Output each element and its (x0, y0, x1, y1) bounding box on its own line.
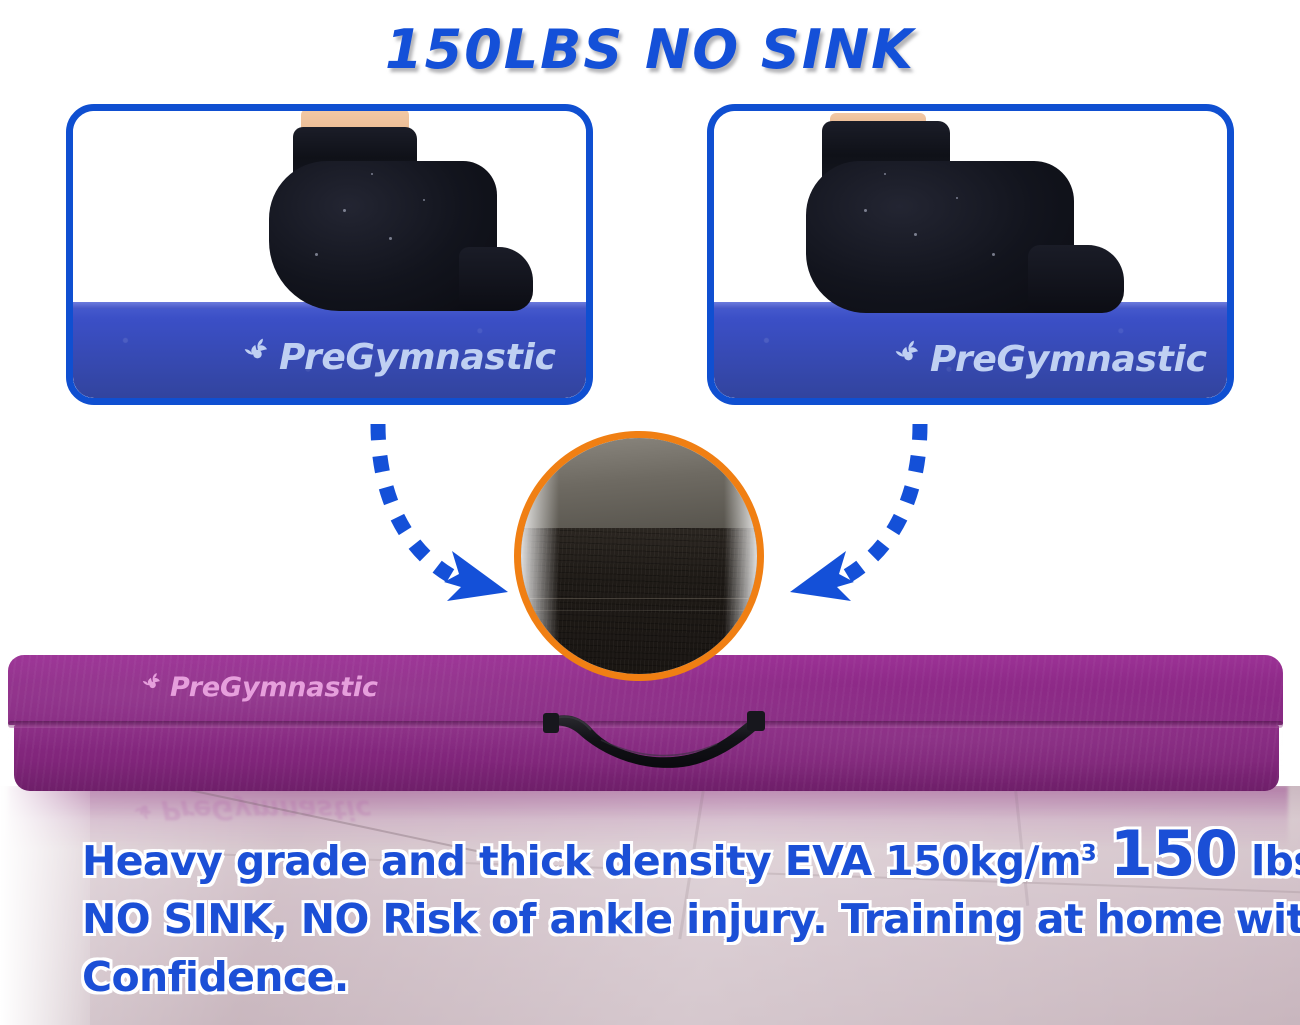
floor-edge-fade (0, 786, 90, 1025)
foot-in-sock (806, 113, 1156, 317)
foam-seam-line (530, 598, 747, 599)
copy-line-1-a: Heavy grade and thick density EVA 150kg/… (82, 837, 1081, 885)
copy-line-2: NO SINK, NO Risk of ankle injury. Traini… (82, 890, 1242, 948)
foam-seam-line (530, 610, 747, 611)
sock-toe (459, 247, 533, 311)
foot-in-sock (223, 111, 553, 319)
pinwheel-swirl-icon (132, 797, 158, 823)
copy-line-3: Confidence. (82, 948, 1242, 1006)
strap-webbing (546, 715, 763, 768)
strap-anchor-left (543, 713, 559, 733)
headline-title: 150LBS NO SINK (0, 22, 1300, 79)
copy-line-1: Heavy grade and thick density EVA 150kg/… (82, 826, 1242, 890)
photo-panel-right: PreGymnastic (707, 104, 1234, 405)
copy-weight-number: 150 (1110, 817, 1238, 890)
foam-edge-fade-left (521, 438, 559, 674)
beam-brand-logo: PreGymnastic (140, 671, 378, 703)
eva-foam-core-closeup (514, 431, 764, 681)
arrow-from-right-panel-to-foam-inset (790, 424, 920, 601)
marketing-copy: Heavy grade and thick density EVA 150kg/… (82, 826, 1242, 1007)
photo-panel-left-image: PreGymnastic (73, 111, 586, 398)
product-infographic: 150LBS NO SINK PreGymnastic (0, 0, 1300, 1025)
copy-line-1-b: lbs, (1251, 837, 1300, 885)
foam-edge-fade-right (724, 438, 757, 674)
arrow-from-left-panel-to-foam-inset (378, 424, 508, 601)
photo-panel-left: PreGymnastic (66, 104, 593, 405)
photo-panel-right-image: PreGymnastic (714, 111, 1227, 398)
strap-anchor-right (747, 711, 765, 731)
density-superscript: 3 (1081, 840, 1096, 866)
carry-handle-strap (541, 710, 769, 772)
beam-brand-name: PreGymnastic (170, 672, 378, 703)
pinwheel-swirl-icon (140, 671, 166, 697)
sock-toe (1028, 245, 1124, 313)
